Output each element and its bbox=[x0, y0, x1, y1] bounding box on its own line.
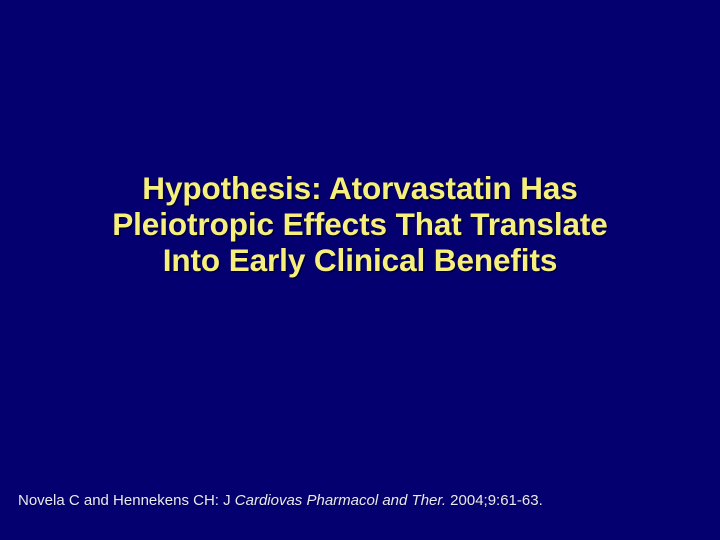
title-line-1: Hypothesis: Atorvastatin Has bbox=[0, 170, 720, 206]
presentation-slide: Hypothesis: Atorvastatin Has Pleiotropic… bbox=[0, 0, 720, 540]
citation-authors: Novela C and Hennekens CH: J bbox=[18, 492, 235, 509]
title-line-3: Into Early Clinical Benefits bbox=[0, 242, 720, 278]
citation-volume-pages: 2004;9:61-63. bbox=[446, 492, 543, 509]
citation-journal: Cardiovas Pharmacol and Ther. bbox=[235, 492, 446, 509]
slide-title: Hypothesis: Atorvastatin Has Pleiotropic… bbox=[0, 170, 720, 278]
slide-citation: Novela C and Hennekens CH: J Cardiovas P… bbox=[18, 491, 543, 510]
title-line-2: Pleiotropic Effects That Translate bbox=[0, 206, 720, 242]
